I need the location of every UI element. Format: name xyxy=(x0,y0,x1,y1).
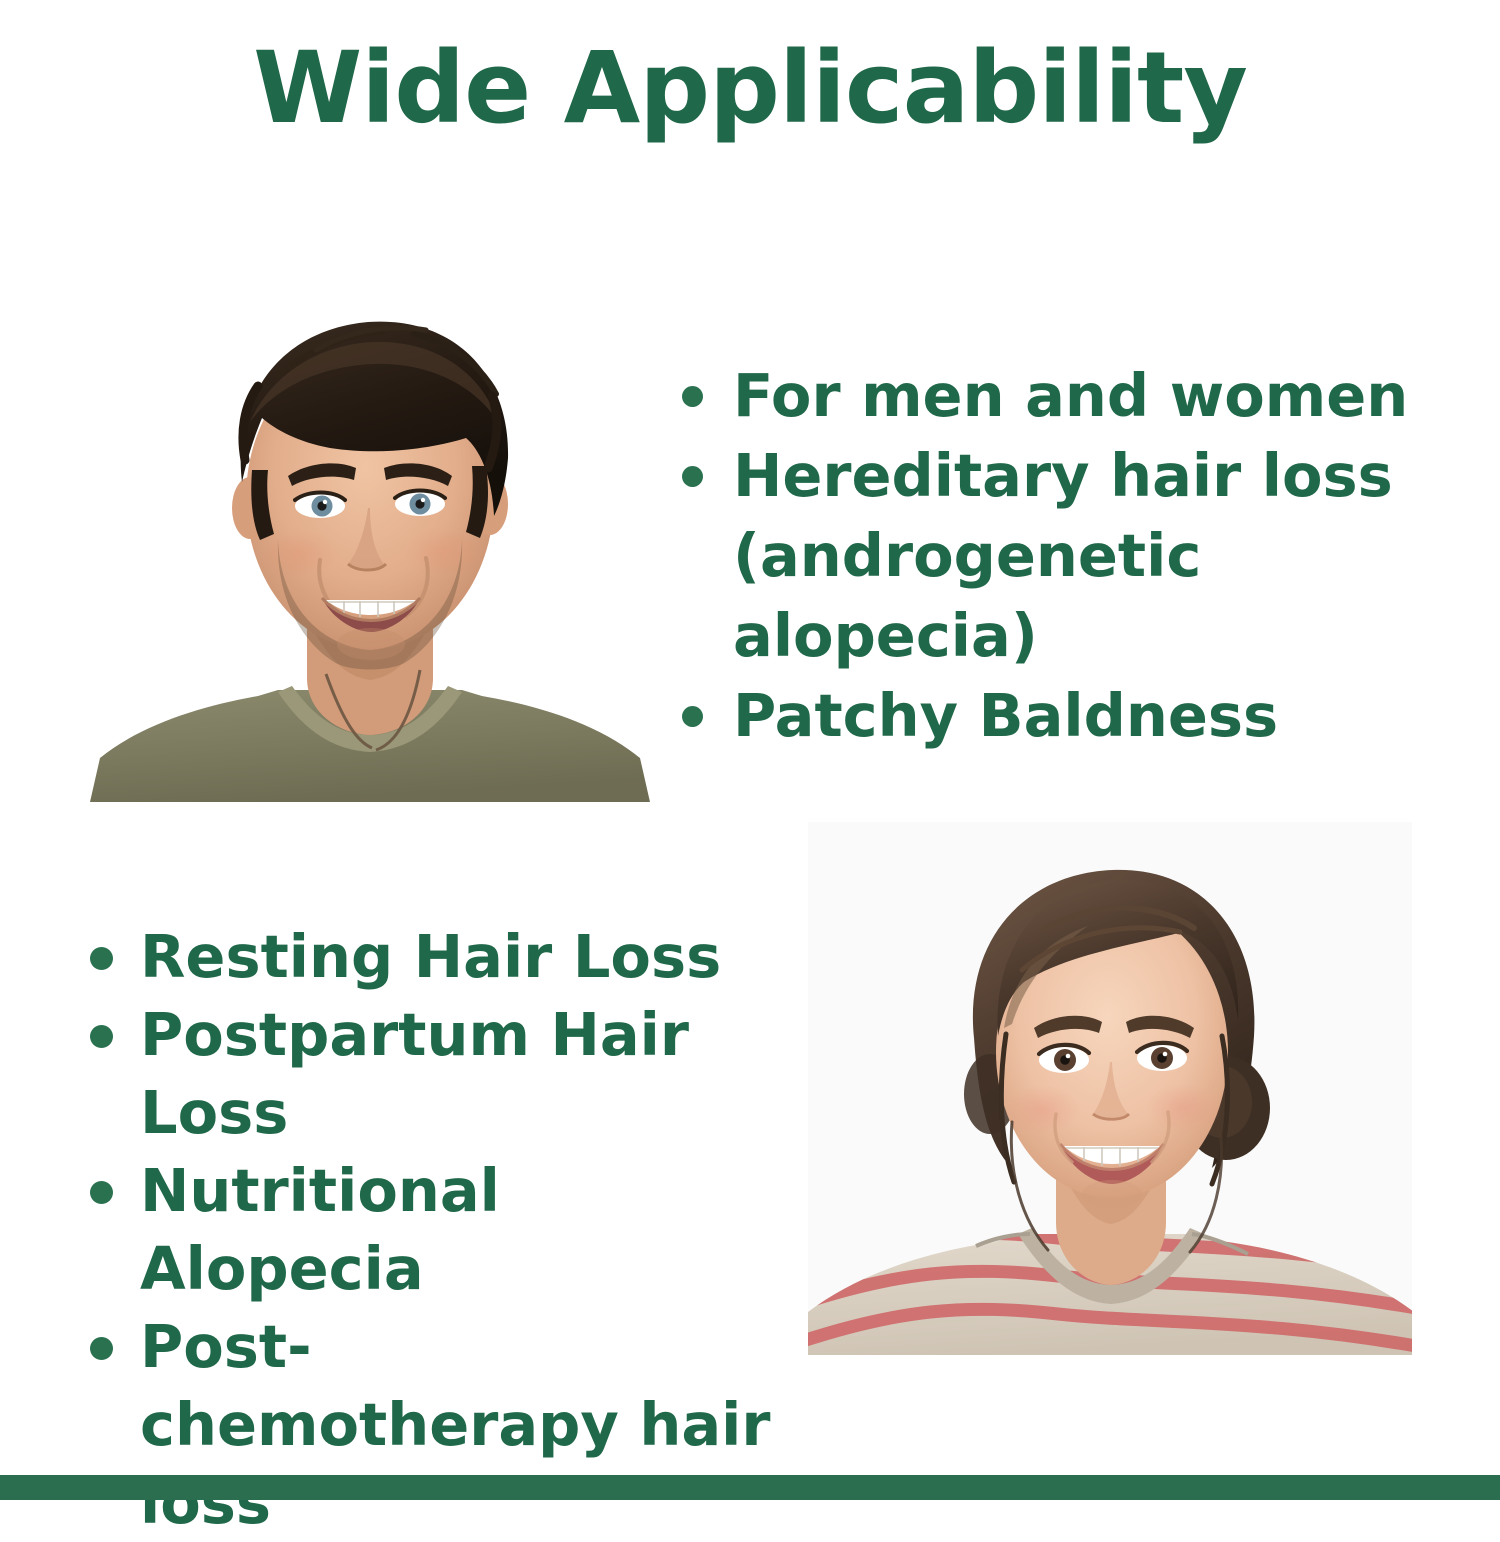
bullet-dot-icon xyxy=(682,466,703,487)
bullet-dot-icon xyxy=(90,1181,113,1204)
bullet-dot-icon xyxy=(90,1337,113,1360)
page-title: Wide Applicability xyxy=(0,36,1500,143)
bullet-dot-icon xyxy=(90,947,113,970)
footer-accent-bar xyxy=(0,1475,1500,1500)
list-item-label: Resting Hair Loss xyxy=(140,918,786,996)
benefits-list-bottom-left: Resting Hair Loss Postpartum Hair Loss N… xyxy=(86,918,786,1542)
list-item-label: Postpartum Hair Loss xyxy=(140,996,786,1152)
benefits-list-top-right: For men and women Hereditary hair loss (… xyxy=(676,356,1436,756)
bullet-dot-icon xyxy=(682,706,703,727)
list-item-label: Hereditary hair loss (androgenetic alope… xyxy=(733,436,1436,676)
list-item-label: Patchy Baldness xyxy=(733,676,1436,756)
list-item: Nutritional Alopecia xyxy=(86,1152,786,1308)
woman-portrait-illustration xyxy=(808,822,1412,1355)
man-portrait-illustration xyxy=(82,272,658,802)
list-item-label: Post-chemotherapy hair loss xyxy=(140,1308,786,1542)
list-item: Hereditary hair loss (androgenetic alope… xyxy=(676,436,1436,676)
list-item: Post-chemotherapy hair loss xyxy=(86,1308,786,1542)
smiling-man-portrait xyxy=(82,272,658,802)
list-item: For men and women xyxy=(676,356,1436,436)
list-item: Resting Hair Loss xyxy=(86,918,786,996)
bullet-dot-icon xyxy=(90,1025,113,1048)
smiling-woman-portrait xyxy=(808,822,1412,1355)
list-item: Patchy Baldness xyxy=(676,676,1436,756)
bullet-dot-icon xyxy=(682,386,703,407)
list-item-label: Nutritional Alopecia xyxy=(140,1152,786,1308)
list-item: Postpartum Hair Loss xyxy=(86,996,786,1152)
list-item-label: For men and women xyxy=(733,356,1436,436)
